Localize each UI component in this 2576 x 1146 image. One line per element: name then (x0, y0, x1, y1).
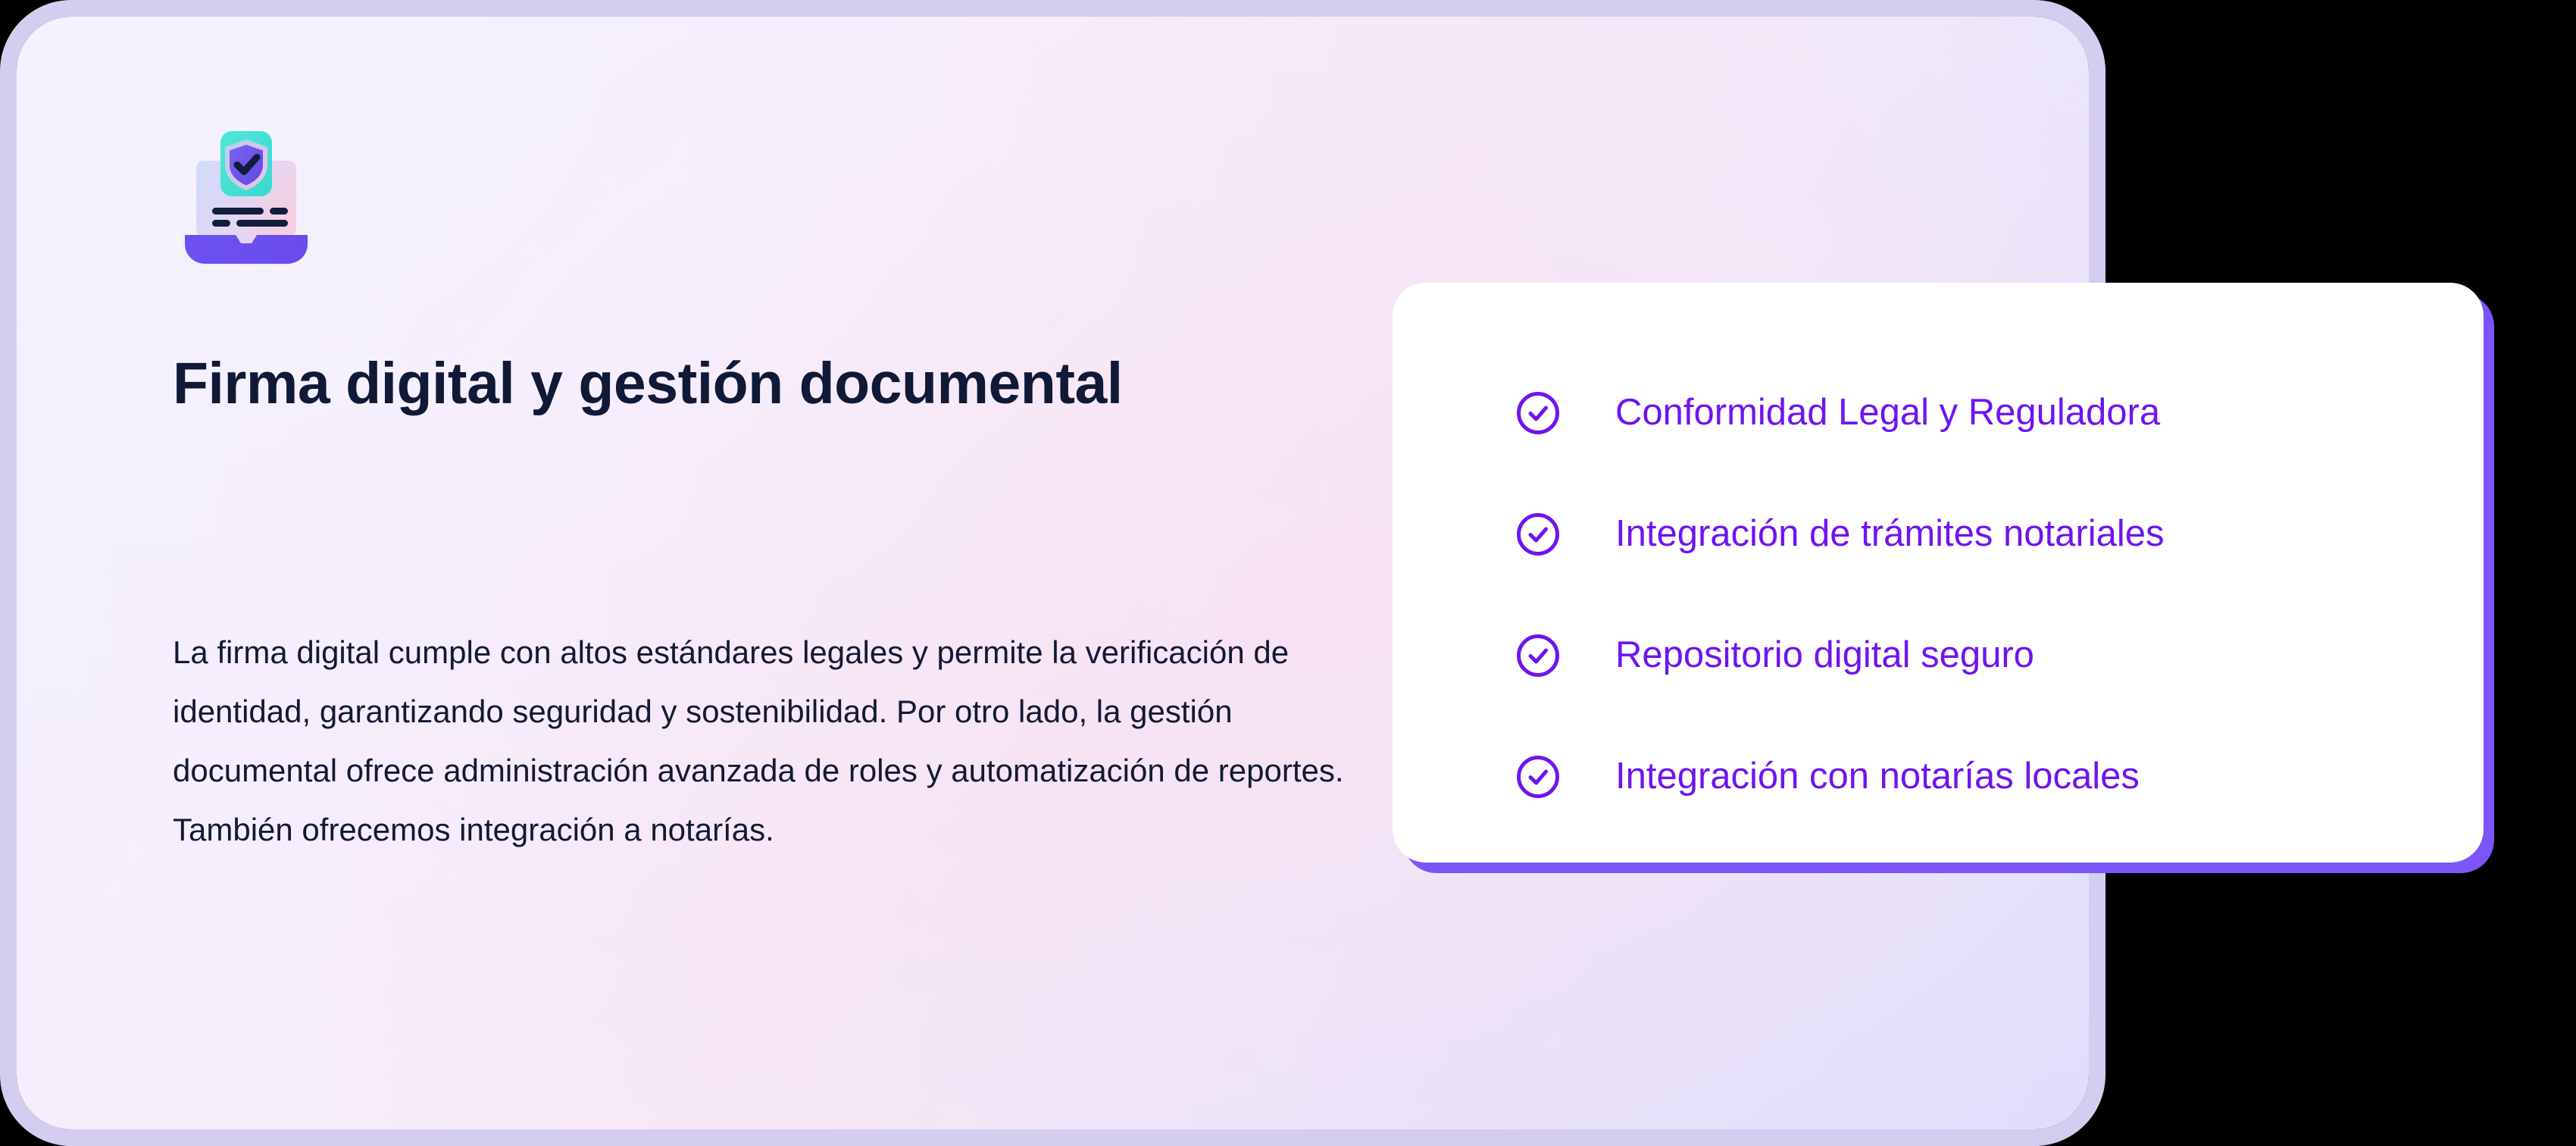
laptop-document-shield-check-icon (173, 123, 320, 270)
check-circle-icon (1515, 512, 1561, 557)
list-item[interactable]: Repositorio digital seguro (1515, 595, 2484, 716)
check-circle-icon (1515, 390, 1561, 436)
list-item-label: Repositorio digital seguro (1615, 635, 2034, 676)
list-item[interactable]: Integración de trámites notariales (1515, 474, 2484, 595)
page-title: Firma digital y gestión documental (173, 350, 1158, 418)
list-item-label: Conformidad Legal y Reguladora (1615, 393, 2160, 434)
benefits-card: Conformidad Legal y Reguladora Integraci… (1393, 283, 2484, 863)
list-item-label: Integración con notarías locales (1615, 756, 2140, 797)
description-paragraph: La firma digital cumple con altos estánd… (173, 623, 1355, 859)
page-root: Firma digital y gestión documental La fi… (0, 0, 2576, 1146)
list-item[interactable]: Conformidad Legal y Reguladora (1515, 352, 2484, 474)
check-circle-icon (1515, 633, 1561, 678)
check-circle-icon (1515, 754, 1561, 800)
list-item-label: Integración de trámites notariales (1615, 514, 2165, 555)
list-item[interactable]: Integración con notarías locales (1515, 716, 2484, 838)
